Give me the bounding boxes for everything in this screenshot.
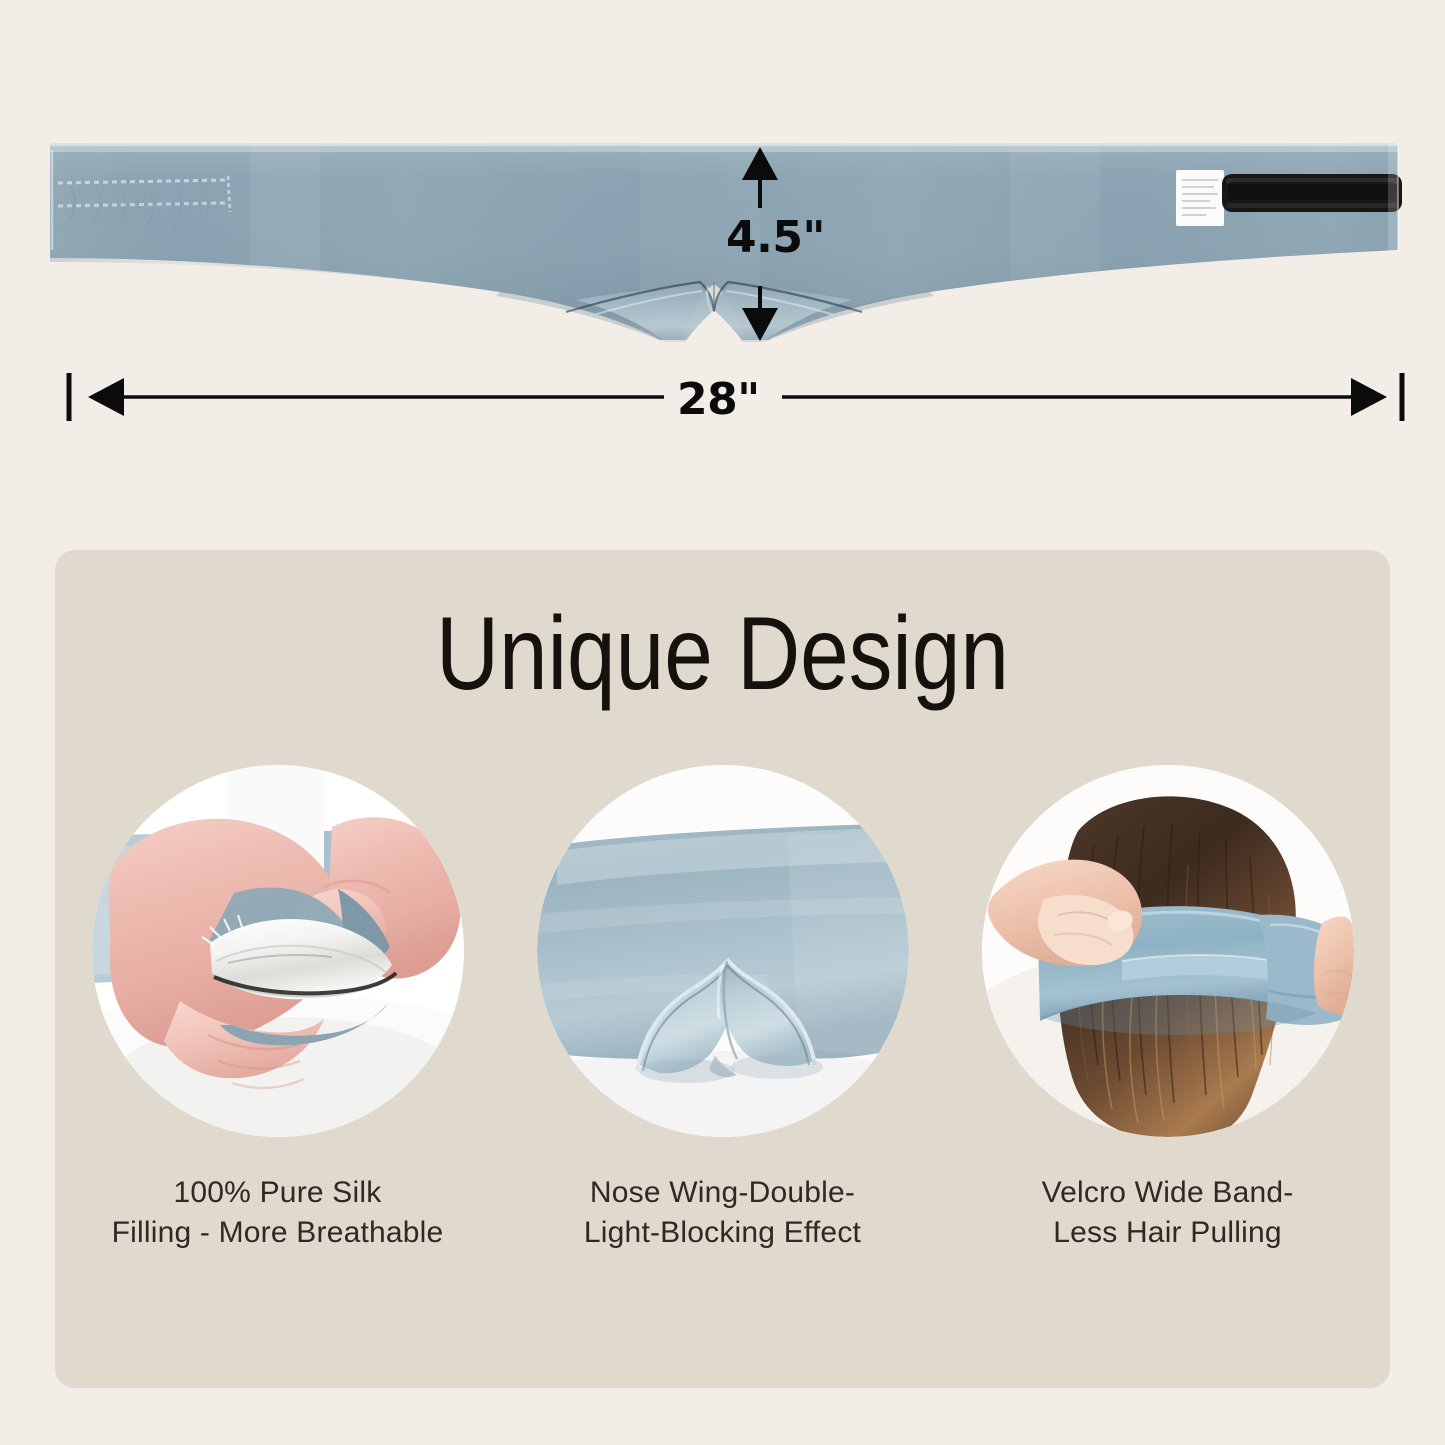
feature-list: 100% Pure Silk Filling - More Breathable <box>55 765 1390 1253</box>
feature-caption-line1: Velcro Wide Band- <box>1042 1173 1294 1213</box>
feature-caption-line2: Less Hair Pulling <box>1042 1213 1294 1253</box>
nose-wing-closeup-photo <box>537 765 909 1137</box>
feature-item-silk-filling: 100% Pure Silk Filling - More Breathable <box>78 765 478 1253</box>
panel-title: Unique Design <box>162 600 1283 709</box>
product-flatlay-image <box>0 0 1445 440</box>
feature-caption-line1: Nose Wing-Double- <box>584 1173 861 1213</box>
feature-caption-line2: Light-Blocking Effect <box>584 1213 861 1253</box>
feature-caption-line1: 100% Pure Silk <box>112 1173 444 1213</box>
feature-caption: Nose Wing-Double- Light-Blocking Effect <box>584 1173 861 1253</box>
feature-item-velcro-band: Velcro Wide Band- Less Hair Pulling <box>968 765 1368 1253</box>
feature-item-nose-wing: Nose Wing-Double- Light-Blocking Effect <box>523 765 923 1253</box>
unique-design-panel: Unique Design <box>55 550 1390 1388</box>
hands-holding-open-mask-photo <box>92 765 464 1137</box>
feature-caption: 100% Pure Silk Filling - More Breathable <box>112 1173 444 1253</box>
feature-caption: Velcro Wide Band- Less Hair Pulling <box>1042 1173 1294 1253</box>
velcro-band-on-head-photo <box>982 765 1354 1137</box>
feature-caption-line2: Filling - More Breathable <box>112 1213 444 1253</box>
product-hero-section: 4.5" 28" <box>0 0 1445 540</box>
